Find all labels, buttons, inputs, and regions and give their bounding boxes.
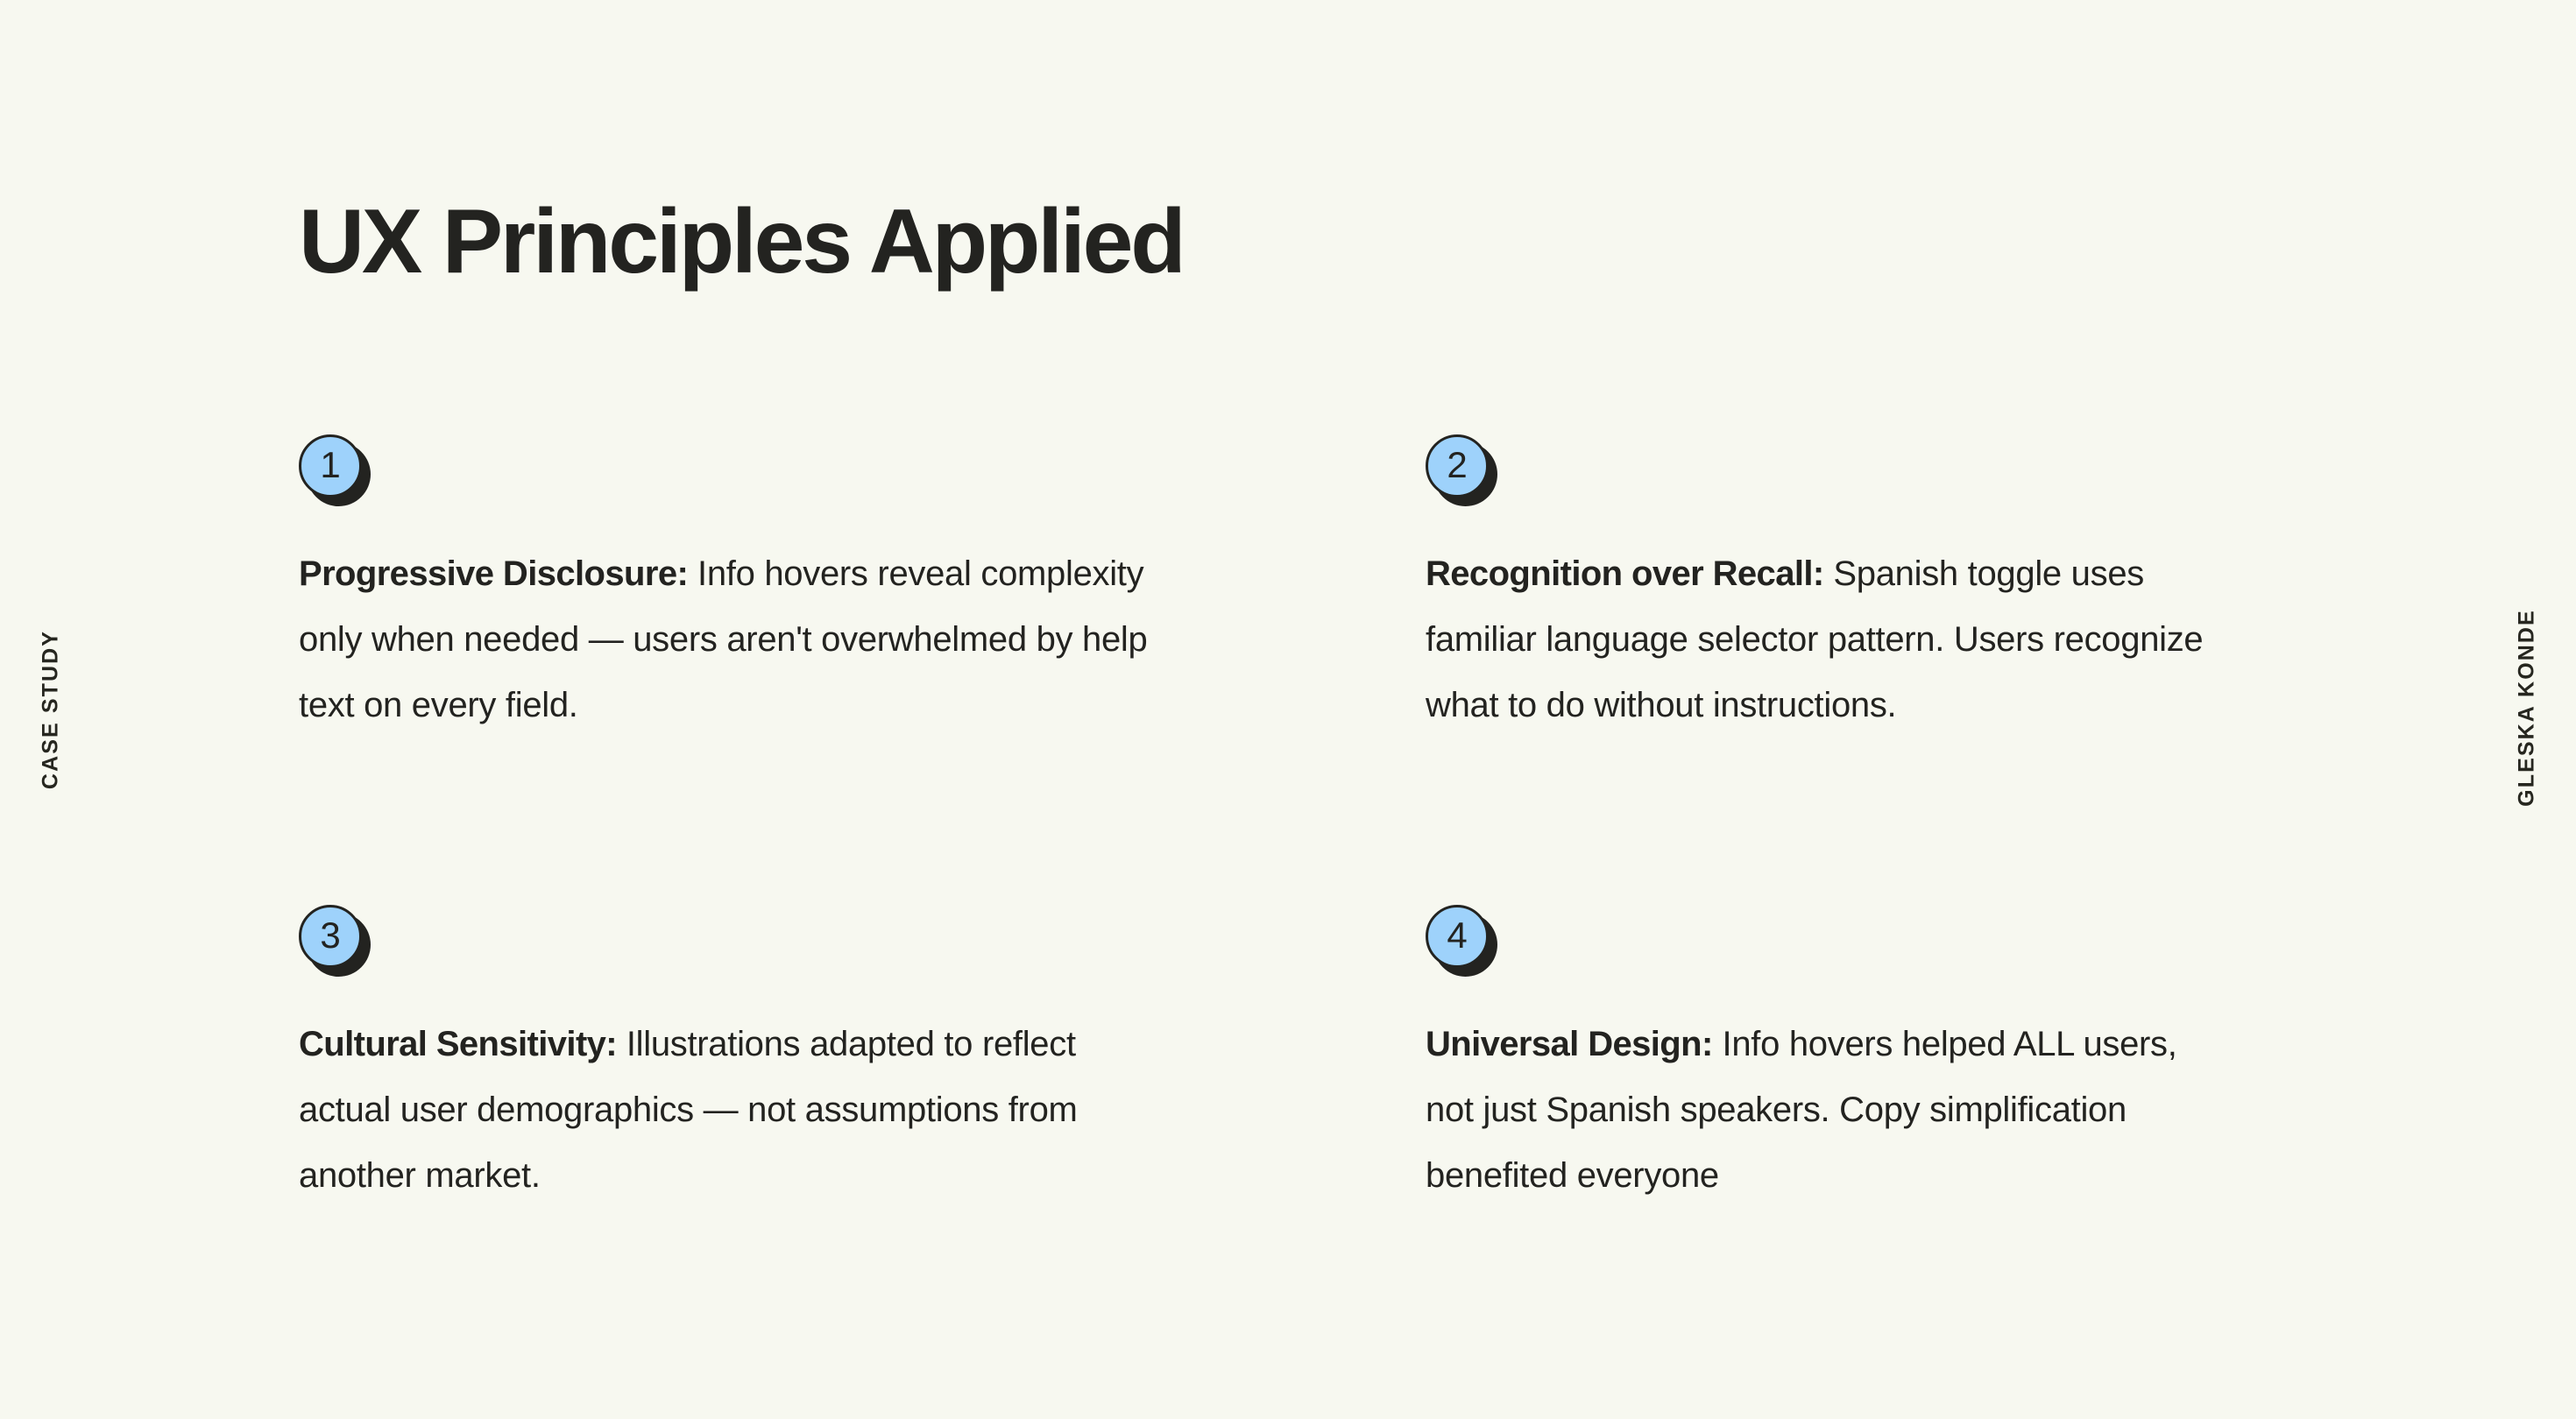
side-label-brand: GLESKA KONDE [2515, 609, 2540, 807]
slide-canvas: CASE STUDY GLESKA KONDE UX Principles Ap… [0, 0, 2576, 1419]
badge-circle-icon: 4 [1426, 905, 1489, 968]
badge-number-label: 2 [1447, 447, 1467, 484]
principle-text-1: Progressive Disclosure: Info hovers reve… [299, 541, 1175, 738]
principle-lead-3: Cultural Sensitivity: [299, 1025, 617, 1063]
principle-text-3: Cultural Sensitivity: Illustrations adap… [299, 1012, 1175, 1209]
badge-circle-icon: 1 [299, 434, 362, 498]
page-title: UX Principles Applied [299, 193, 1184, 291]
principle-lead-4: Universal Design: [1426, 1025, 1713, 1063]
principle-text-2: Recognition over Recall: Spanish toggle … [1426, 541, 2219, 738]
badge-circle-icon: 3 [299, 905, 362, 968]
principle-lead-2: Recognition over Recall: [1426, 554, 1824, 593]
number-badge-3: 3 [299, 905, 371, 977]
badge-number-label: 3 [320, 917, 340, 954]
principle-lead-1: Progressive Disclosure: [299, 554, 688, 593]
principles-grid: 1 Progressive Disclosure: Info hovers re… [299, 434, 2235, 1244]
number-badge-2: 2 [1426, 434, 1497, 506]
principle-text-4: Universal Design: Info hovers helped ALL… [1426, 1012, 2219, 1209]
principle-card-3: 3 Cultural Sensitivity: Illustrations ad… [299, 905, 1175, 1244]
badge-number-label: 4 [1447, 917, 1467, 954]
side-label-case-study: CASE STUDY [39, 630, 64, 789]
principle-card-1: 1 Progressive Disclosure: Info hovers re… [299, 434, 1175, 773]
principle-card-4: 4 Universal Design: Info hovers helped A… [1426, 905, 2219, 1244]
number-badge-1: 1 [299, 434, 371, 506]
number-badge-4: 4 [1426, 905, 1497, 977]
badge-number-label: 1 [320, 447, 340, 484]
principle-card-2: 2 Recognition over Recall: Spanish toggl… [1426, 434, 2219, 773]
badge-circle-icon: 2 [1426, 434, 1489, 498]
